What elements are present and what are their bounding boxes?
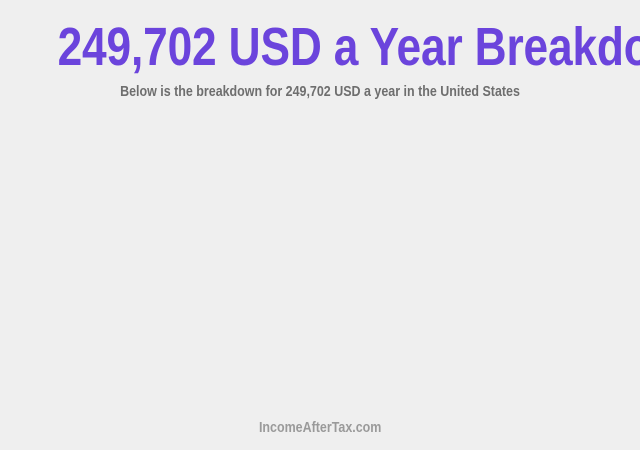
page-subtitle: Below is the breakdown for 249,702 USD a… [45,84,595,101]
breakdown-page: 249,702 USD a Year Breakdown Below is th… [0,0,640,450]
page-title: 249,702 USD a Year Breakdown [58,18,583,76]
page-footer: IncomeAfterTax.com [0,419,640,437]
footer-brand-label: IncomeAfterTax.com [259,420,381,437]
chart-area [0,115,640,410]
chart-plot-area [0,115,640,410]
